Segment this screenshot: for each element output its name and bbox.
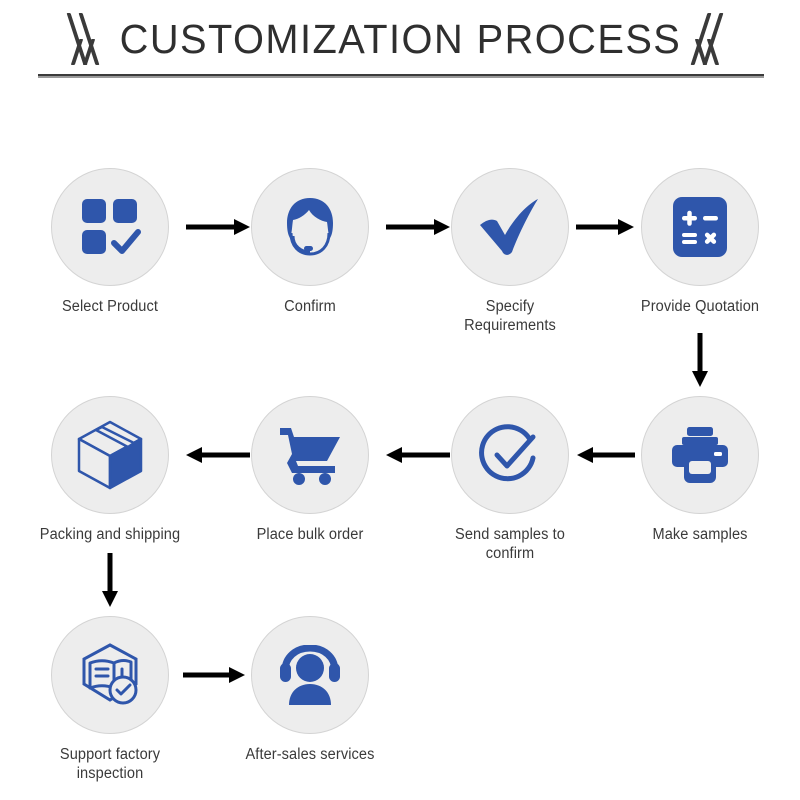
step-icon-circle [251,396,369,514]
shopping-cart-icon [277,425,343,485]
step-icon-circle [51,396,169,514]
step-icon-circle [51,168,169,286]
double-chevron-right-icon [71,11,105,67]
header-divider [38,74,764,78]
calculator-icon [671,195,729,259]
step-after-sales-services[interactable]: After-sales services [235,616,385,764]
step-specify-requirements[interactable]: Specify Requirements [435,168,585,335]
step-select-product[interactable]: Select Product [35,168,185,316]
arrow-quotation-to-samples [688,333,712,387]
step-icon-circle [641,168,759,286]
arrow-select-to-confirm [186,215,250,239]
step-label: Provide Quotation [630,297,771,316]
step-place-bulk-order[interactable]: Place bulk order [235,396,385,544]
arrow-inspection-to-aftersales [183,663,245,687]
page-header: CUSTOMIZATION PROCESS [0,0,800,96]
step-send-samples[interactable]: Send samples to confirm [435,396,585,563]
step-label: After-sales services [240,745,381,764]
printer-icon [668,425,732,485]
arrow-confirm-to-specify [386,215,450,239]
circle-check-icon [477,422,543,488]
step-provide-quotation[interactable]: Provide Quotation [625,168,775,316]
step-make-samples[interactable]: Make samples [625,396,775,544]
arrow-send-to-order [386,443,450,467]
step-label: Make samples [630,525,771,544]
double-chevron-left-icon [695,11,729,67]
support-person-icon [277,645,343,705]
page-title: CUSTOMIZATION PROCESS [119,16,681,63]
step-support-factory-inspection[interactable]: Support factory inspection [35,616,185,783]
step-icon-circle [251,616,369,734]
shield-inspection-icon [76,642,144,708]
step-confirm[interactable]: Confirm [235,168,385,316]
step-label: Place bulk order [240,525,381,544]
step-icon-circle [451,168,569,286]
step-label: Select Product [40,297,181,316]
step-icon-circle [451,396,569,514]
step-icon-circle [641,396,759,514]
checkmark-icon [476,194,544,260]
arrow-packing-to-inspection [98,553,122,607]
package-box-icon [77,420,143,490]
step-label: Specify Requirements [440,297,581,335]
step-label: Send samples to confirm [440,525,581,563]
step-icon-circle [251,168,369,286]
step-label: Confirm [240,297,381,316]
step-label: Packing and shipping [40,525,181,544]
step-packing-and-shipping[interactable]: Packing and shipping [35,396,185,544]
arrow-specify-to-quotation [576,215,634,239]
grid-squares-check-icon [79,196,141,258]
step-icon-circle [51,616,169,734]
headset-agent-icon [277,194,343,260]
arrow-samples-to-send [577,443,635,467]
title-row: CUSTOMIZATION PROCESS [0,8,800,70]
arrow-order-to-packing [186,443,250,467]
step-label: Support factory inspection [40,745,181,783]
